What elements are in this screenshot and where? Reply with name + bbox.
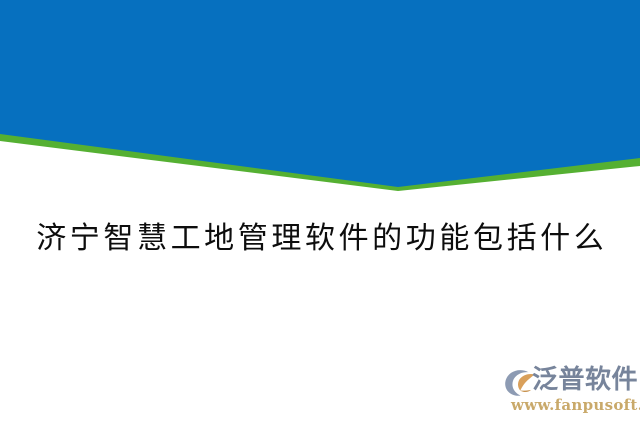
- header-banner: [0, 0, 640, 200]
- slide-canvas: 济宁智慧工地管理软件的功能包括什么 泛普软件 www.fanpusoft.com: [0, 0, 640, 427]
- header-blue-shape: [0, 0, 640, 187]
- page-title: 济宁智慧工地管理软件的功能包括什么: [33, 218, 608, 260]
- title-block: 济宁智慧工地管理软件的功能包括什么: [0, 218, 640, 260]
- brand-url: www.fanpusoft.com: [511, 396, 640, 414]
- brand-watermark: 泛普软件 www.fanpusoft.com: [504, 365, 638, 421]
- brand-logo-row: 泛普软件: [504, 365, 638, 397]
- brand-wordmark: 泛普软件: [532, 365, 638, 395]
